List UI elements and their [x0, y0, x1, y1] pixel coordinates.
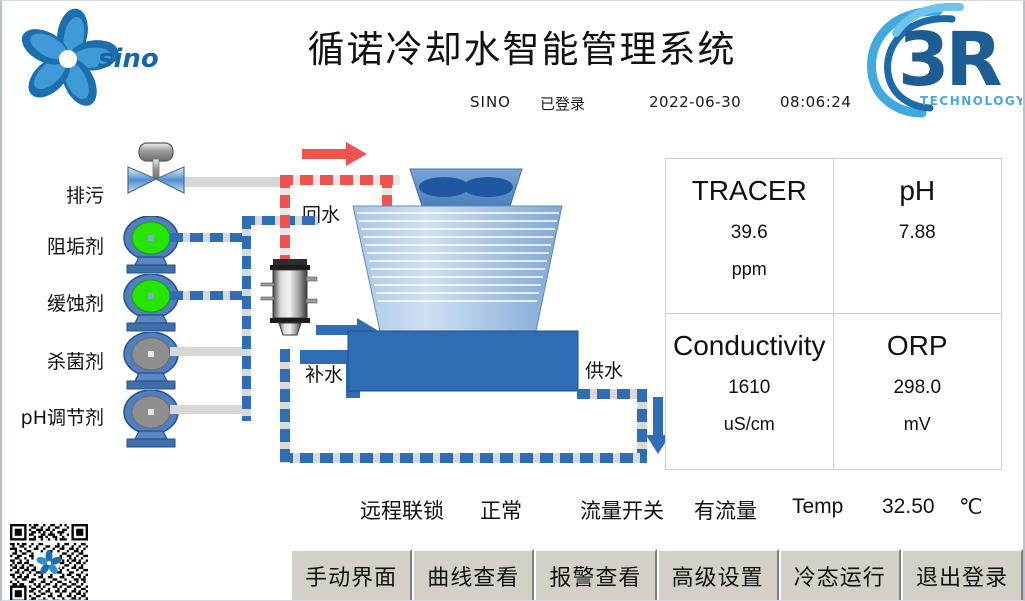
cooling-tower-icon — [340, 151, 630, 426]
blowdown-valve-icon — [120, 141, 202, 199]
dosing-riser-pipe — [242, 216, 251, 421]
orp-unit: mV — [904, 414, 931, 435]
measurement-panel: TRACER 39.6 ppm pH 7.88 Conductivity 161… — [665, 158, 1002, 470]
brand-3r-text: 3R — [898, 17, 1001, 103]
header: sino 循诺冷却水智能管理系统 SINO 已登录 2022-06-30 08:… — [2, 1, 1023, 121]
header-login-state: 已登录 — [540, 93, 585, 114]
button-advanced-config[interactable]: 高级设置 — [657, 549, 779, 601]
supply-water-pipe-bottom — [280, 453, 647, 463]
dosing-line-scale-inhibitor — [170, 233, 250, 242]
qr-code — [10, 524, 88, 601]
label-makeup-water: 补水 — [305, 360, 343, 387]
status-temp-unit: ℃ — [959, 495, 983, 520]
conductivity-value: 1610 — [728, 377, 770, 399]
orp-label: ORP — [887, 328, 948, 363]
process-diagram: 排污 阻垢剂 缓蚀剂 杀菌剂 pH调节剂 回水 补水 供水 — [2, 121, 1023, 481]
brand-3r-logo: 3R TECHNOLOGY — [860, 3, 1022, 119]
page-title: 循诺冷却水智能管理系统 — [252, 19, 792, 73]
status-temp-value: 32.50 — [882, 495, 935, 519]
conductivity-label: Conductivity — [673, 328, 826, 363]
ph-value: 7.88 — [899, 222, 936, 244]
label-blowdown: 排污 — [24, 181, 104, 208]
header-time: 08:06:24 — [780, 93, 851, 111]
pump-biocide[interactable] — [115, 332, 187, 390]
tracer-label: TRACER — [692, 173, 807, 208]
orp-value: 298.0 — [893, 377, 941, 399]
scada-window: sino 循诺冷却水智能管理系统 SINO 已登录 2022-06-30 08:… — [0, 0, 1025, 601]
ph-label: pH — [899, 173, 935, 208]
button-alarm-view[interactable]: 报警查看 — [534, 549, 656, 601]
status-flowswitch-value: 有流量 — [694, 495, 757, 525]
dosing-line-biocide — [170, 347, 248, 356]
brand-3r-subtext: TECHNOLOGY — [920, 94, 1022, 108]
button-cold-run[interactable]: 冷态运行 — [779, 549, 901, 601]
measurement-cell-orp: ORP 298.0 mV — [834, 314, 1002, 469]
status-temp-label: Temp — [792, 495, 843, 519]
sino-logo: sino — [10, 7, 160, 112]
header-user: SINO — [470, 93, 511, 111]
label-corrosion-inhibitor: 缓蚀剂 — [14, 289, 104, 316]
pump-corrosion-inhibitor[interactable] — [115, 274, 187, 332]
button-logout[interactable]: 退出登录 — [901, 549, 1023, 601]
status-line: 远程联锁 正常 流量开关 有流量 Temp 32.50 ℃ — [2, 495, 1023, 531]
pump-ph-adjuster[interactable] — [115, 390, 187, 448]
tracer-unit: ppm — [732, 259, 767, 280]
tracer-value: 39.6 — [731, 222, 768, 244]
measurement-cell-conductivity: Conductivity 1610 uS/cm — [666, 314, 834, 469]
dosing-line-ph — [170, 405, 248, 414]
conductivity-unit: uS/cm — [724, 414, 775, 435]
pump-scale-inhibitor[interactable] — [115, 216, 187, 274]
sino-wordmark: sino — [98, 44, 159, 74]
button-trend-view[interactable]: 曲线查看 — [412, 549, 534, 601]
dosing-line-corrosion-inhibitor — [170, 291, 250, 300]
button-bar: 手动界面 曲线查看 报警查看 高级设置 冷态运行 退出登录 — [290, 549, 1023, 601]
label-biocide: 杀菌剂 — [14, 347, 104, 374]
supply-water-pipe-left — [280, 349, 290, 463]
header-date: 2022-06-30 — [649, 93, 741, 111]
status-interlock-value: 正常 — [480, 495, 522, 525]
label-scale-inhibitor: 阻垢剂 — [14, 232, 104, 259]
heat-exchanger-icon — [260, 251, 322, 341]
measurement-cell-tracer: TRACER 39.6 ppm — [666, 159, 834, 314]
button-manual-screen[interactable]: 手动界面 — [290, 549, 412, 601]
status-flowswitch-label: 流量开关 — [580, 495, 664, 525]
label-ph-adjuster: pH调节剂 — [4, 403, 104, 430]
status-interlock-label: 远程联锁 — [360, 495, 444, 525]
measurement-cell-ph: pH 7.88 — [834, 159, 1002, 314]
